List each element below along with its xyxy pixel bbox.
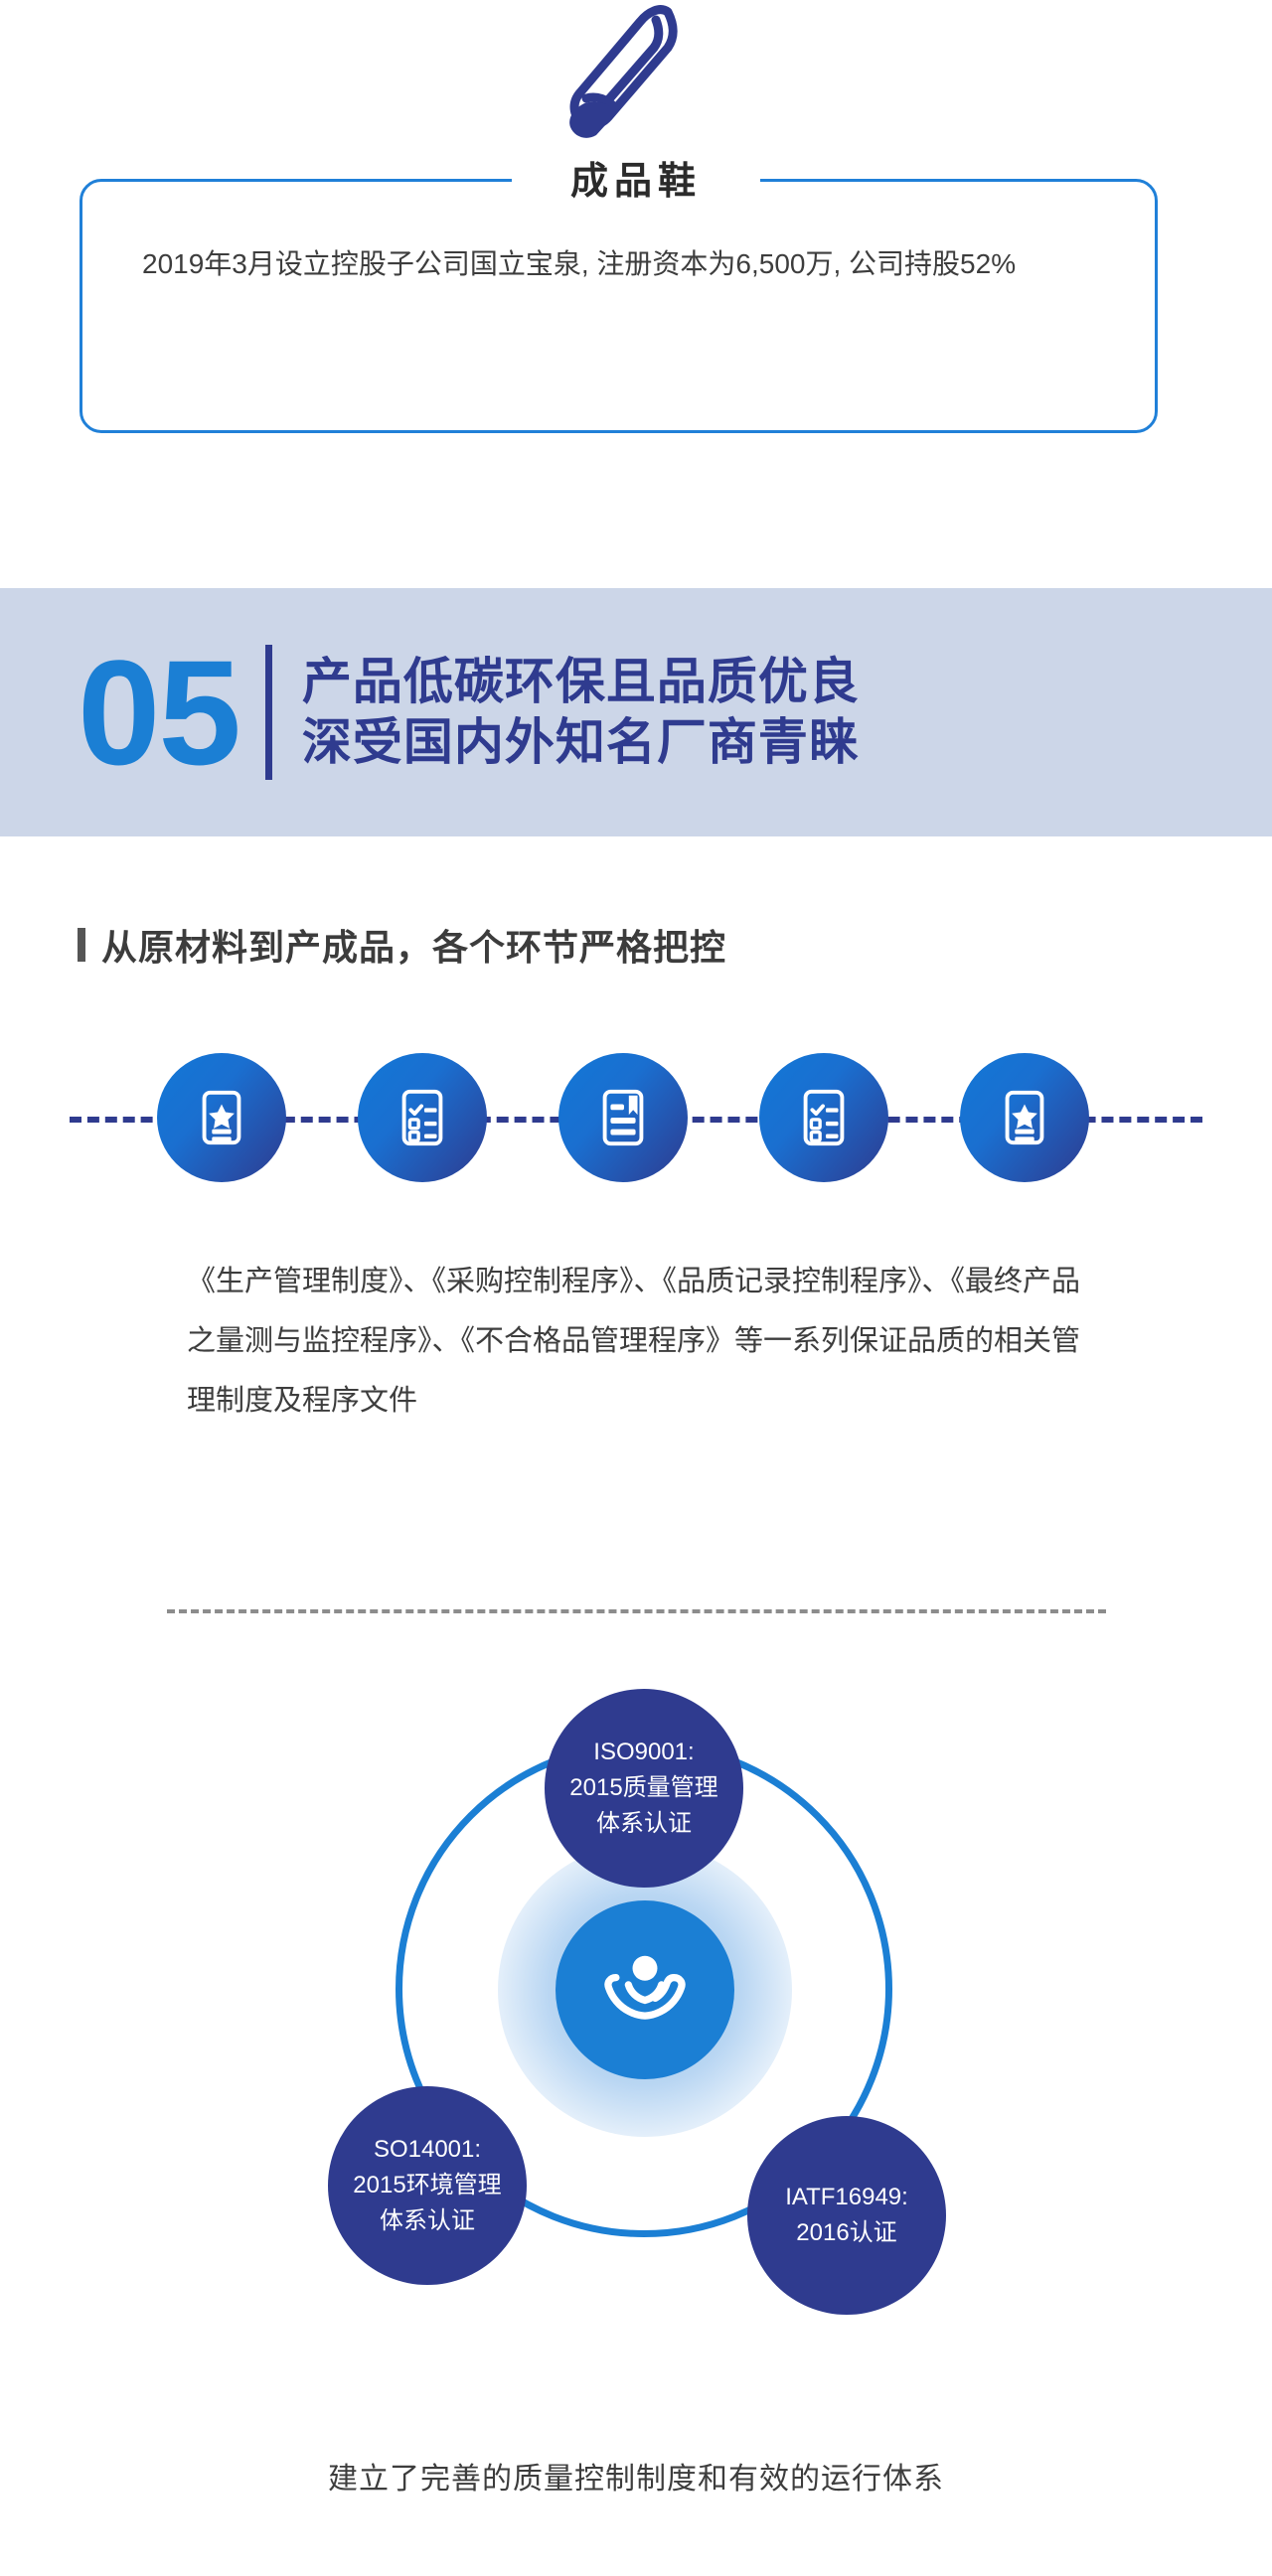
certification-caption: 建立了完善的质量控制制度和有效的运行体系 (0, 2454, 1272, 2498)
banner-divider (265, 645, 272, 780)
badge-line: 体系认证 (380, 2203, 475, 2239)
certification-badge-iatf16949: IATF16949: 2016认证 (747, 2116, 946, 2315)
process-node-2 (358, 1053, 487, 1182)
badge-line: 2015质量管理 (569, 1770, 717, 1806)
finished-shoe-card: 成品鞋 2019年3月设立控股子公司国立宝泉, 注册资本为6,500万, 公司持… (79, 179, 1158, 433)
process-node-4 (759, 1053, 888, 1182)
page-title: 成品鞋 (512, 152, 760, 212)
badge-line: ISO9001: (593, 1735, 694, 1770)
document-star-icon (994, 1087, 1055, 1148)
certification-badge-iso9001: ISO9001: 2015质量管理 体系认证 (545, 1689, 743, 1888)
badge-line: IATF16949: (785, 2180, 908, 2215)
process-node-1 (157, 1053, 286, 1182)
badge-line: SO14001: (374, 2132, 481, 2168)
document-star-icon (191, 1087, 252, 1148)
section-title-line-1: 产品低碳环保且品质优良 (302, 652, 860, 712)
document-bookmark-icon (592, 1087, 654, 1148)
checklist-icon (392, 1087, 453, 1148)
section-title-line-2: 深受国内外知名厂商青睐 (302, 712, 860, 773)
badge-line: 体系认证 (596, 1806, 692, 1842)
badge-line: 2016认证 (796, 2215, 896, 2251)
dashed-separator (167, 1609, 1106, 1613)
section-banner: 05 产品低碳环保且品质优良 深受国内外知名厂商青睐 (0, 588, 1272, 836)
badge-line: 2015环境管理 (353, 2168, 501, 2203)
quality-core (556, 1900, 734, 2079)
process-node-5 (960, 1053, 1089, 1182)
certification-badge-iso14001: SO14001: 2015环境管理 体系认证 (328, 2086, 527, 2285)
section-number: 05 (78, 638, 239, 787)
sneaker-icon (556, 0, 715, 149)
card-body-text: 2019年3月设立控股子公司国立宝泉, 注册资本为6,500万, 公司持股52% (142, 236, 1106, 292)
section-title: 产品低碳环保且品质优良 深受国内外知名厂商青睐 (302, 652, 860, 773)
card-title-container: 成品鞋 (512, 152, 760, 214)
heading-tick-mark (78, 928, 85, 962)
process-node-3 (558, 1053, 688, 1182)
subsection-heading: 从原材料到产成品，各个环节严格把控 (78, 919, 726, 971)
finished-shoe-section: 成品鞋 2019年3月设立控股子公司国立宝泉, 注册资本为6,500万, 公司持… (0, 0, 1272, 586)
checklist-icon (793, 1087, 855, 1148)
process-chain (0, 1033, 1272, 1202)
documents-paragraph: 《生产管理制度》、《采购控制程序》、《品质记录控制程序》、《最终产品之量测与监控… (187, 1252, 1091, 1431)
hands-supporting-person-icon (593, 1936, 697, 2045)
certification-diagram: ISO9001: 2015质量管理 体系认证 SO14001: 2015环境管理… (268, 1689, 1004, 2404)
subsection-heading-text: 从原材料到产成品，各个环节严格把控 (101, 919, 726, 971)
